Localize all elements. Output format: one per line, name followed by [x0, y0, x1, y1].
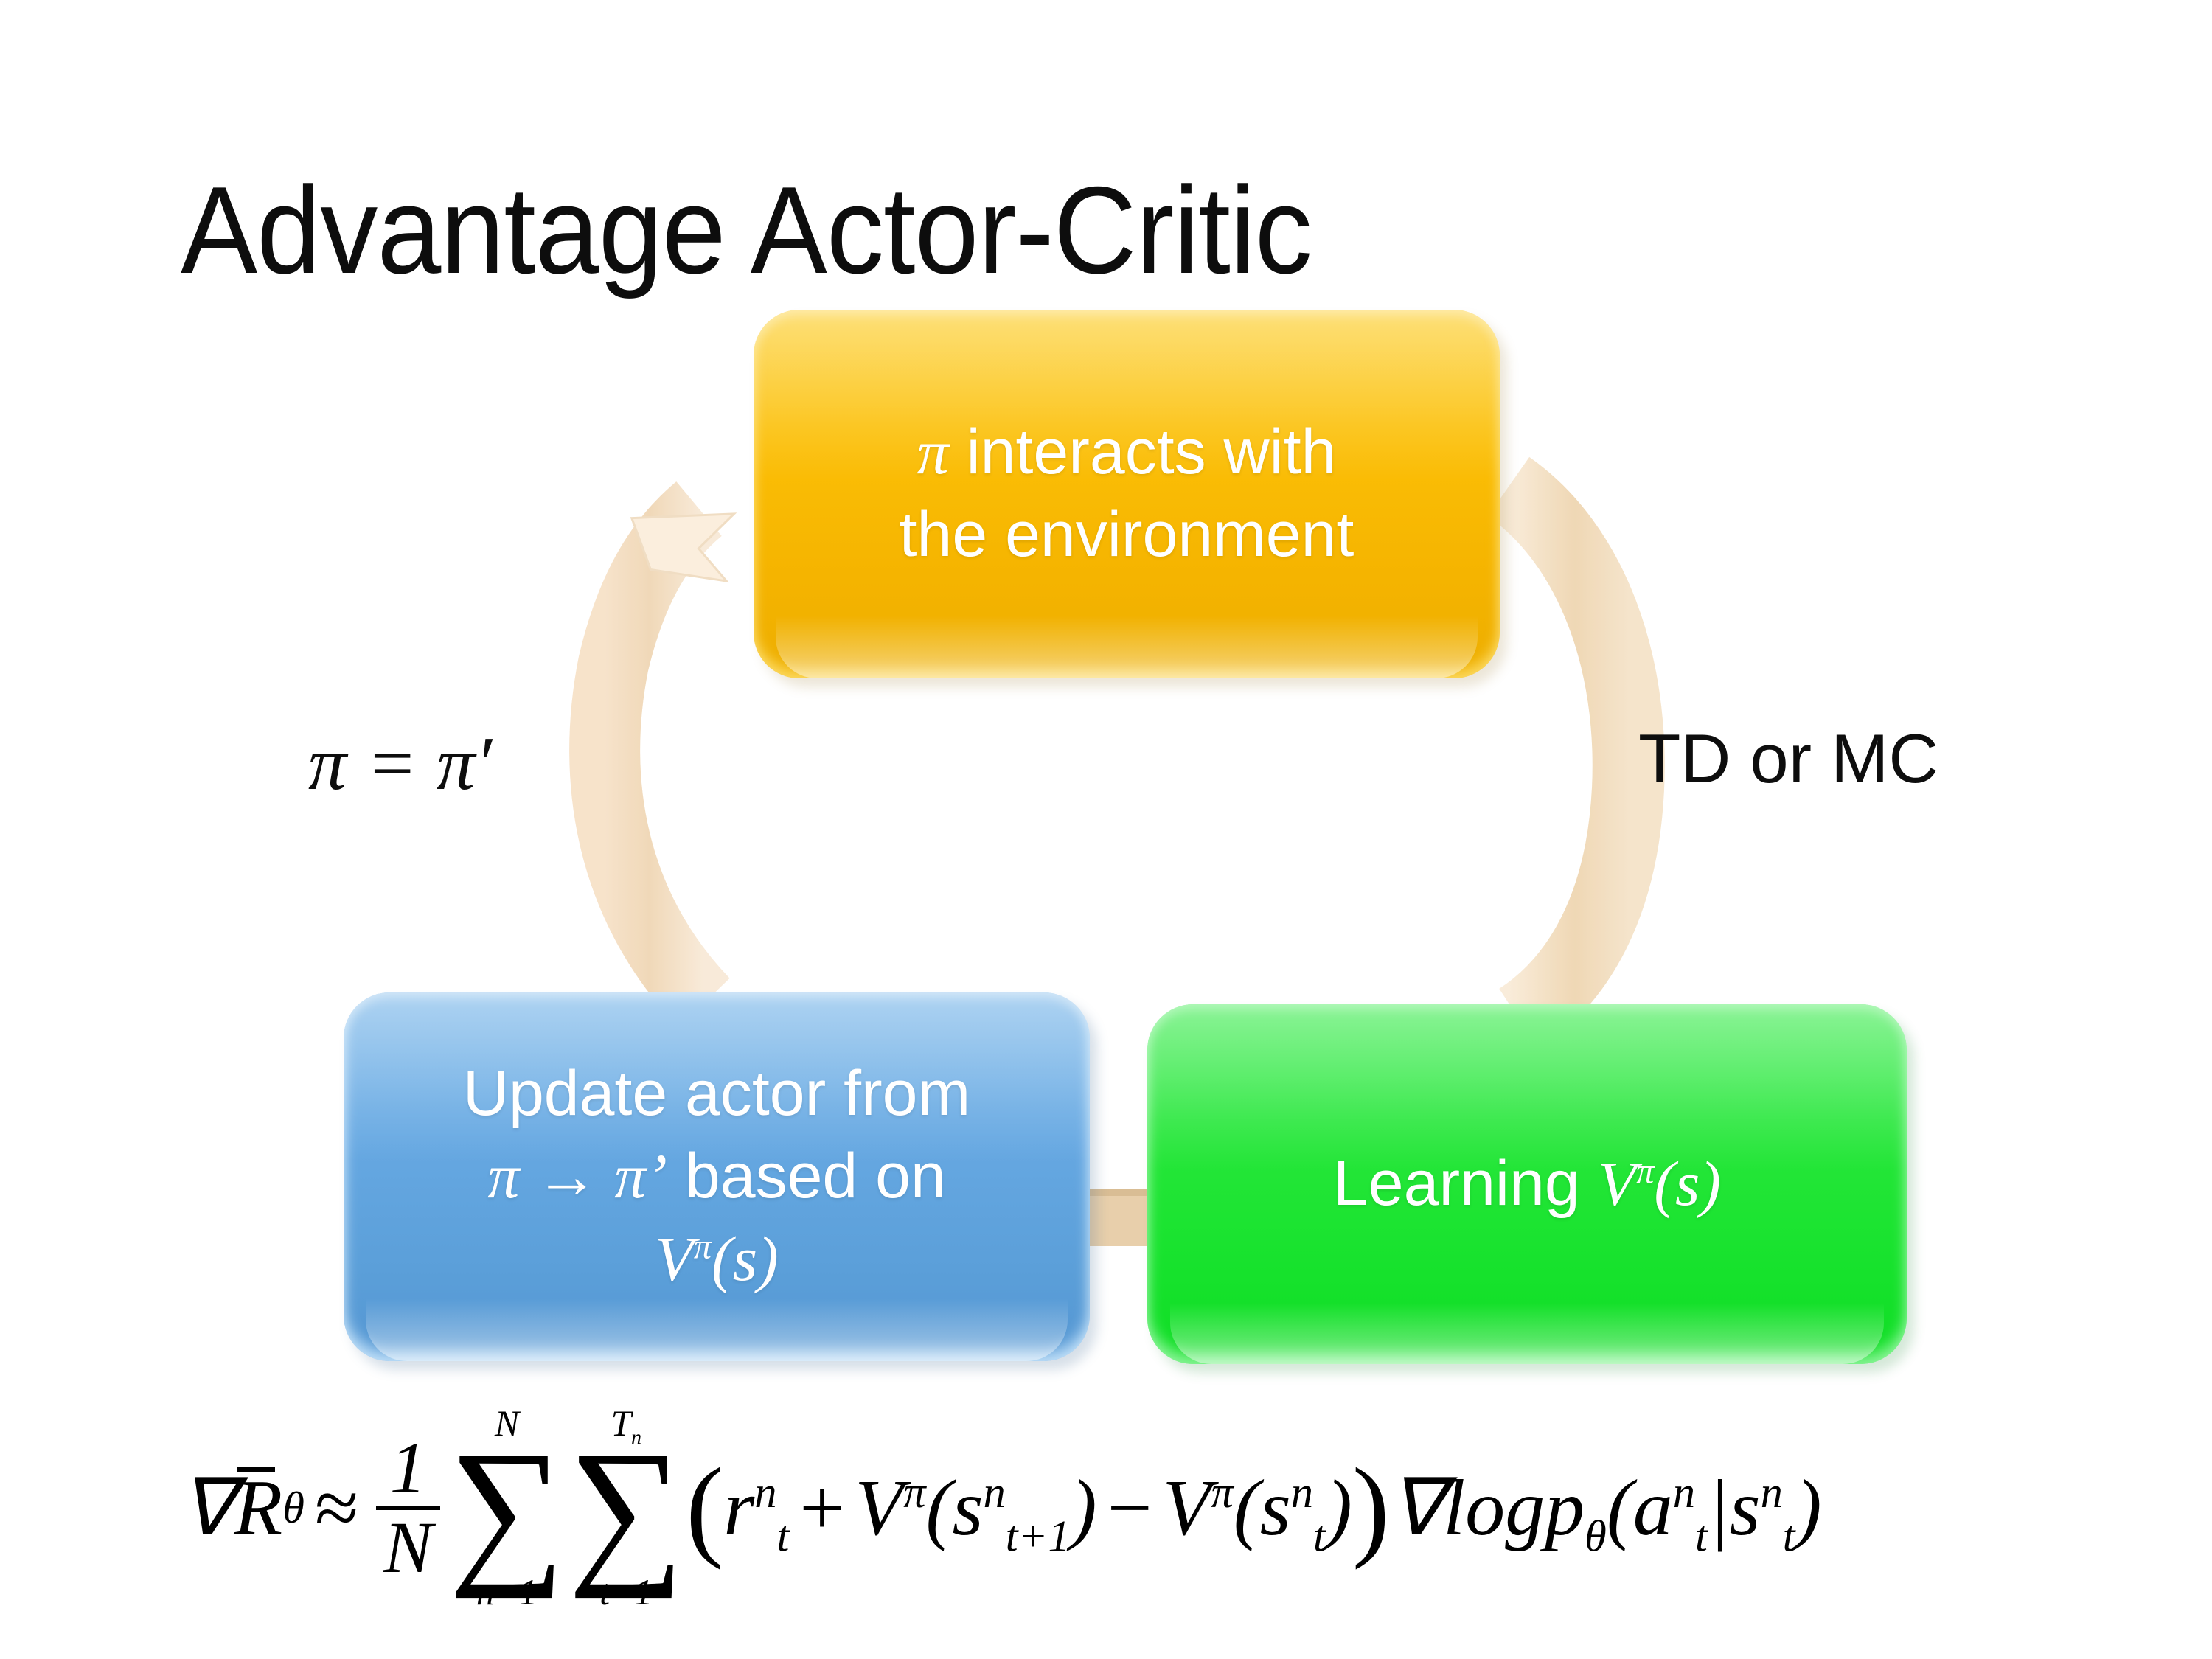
value-function-symbol: Vπ(s) [1598, 1148, 1721, 1219]
formula-frac-denominator: N [376, 1506, 439, 1585]
edge-label-pi-equals-pi-prime: π = π′ [308, 726, 492, 802]
slide-canvas: Advantage Actor-Critic [0, 0, 2212, 1659]
node-learning-label: Learning Vπ(s) [1147, 1143, 1907, 1225]
policy-gradient-formula: ∇Rθ ≈ 1 N N ∑ n=1 Tn ∑ t=1 ( rnt + Vπ(sn… [181, 1405, 1822, 1612]
formula-nabla: ∇ [181, 1469, 234, 1548]
value-function-symbol: Vπ(s) [655, 1223, 778, 1294]
node-policy-label: ππ interacts with interacts with the env… [754, 411, 1500, 577]
node-policy-interacts[interactable]: ππ interacts with interacts with the env… [754, 310, 1500, 678]
node-learning-value[interactable]: Learning Vπ(s) [1147, 1004, 1907, 1364]
formula-sum2-sigma: ∑ [568, 1443, 684, 1573]
formula-approx: ≈ [305, 1469, 369, 1548]
formula-sum1-lower: n=1 [476, 1573, 538, 1612]
edge-label-td-or-mc: TD or MC [1638, 724, 1938, 793]
formula-minus: − [1097, 1469, 1163, 1548]
pi-symbol: π [917, 417, 949, 487]
formula-reward-term: rnt [723, 1469, 789, 1548]
node-update-label: Update actor from π → π’ based on Vπ(s) [344, 1053, 1090, 1300]
formula-close-paren: ) [1352, 1469, 1390, 1548]
formula-sum2-lower: t=1 [599, 1573, 653, 1612]
formula-plus: + [789, 1469, 855, 1548]
node-update-line1: Update actor from [463, 1058, 970, 1129]
formula-sum-over-n: N ∑ n=1 [449, 1405, 566, 1612]
arrow-learning-to-update [1084, 1189, 1152, 1246]
arrow-policy-to-learning [1509, 487, 1629, 1019]
formula-value-next-state: Vπ(snt+1) [855, 1469, 1096, 1548]
formula-sum1-sigma: ∑ [449, 1443, 566, 1573]
formula-value-current-state: Vπ(snt) [1162, 1469, 1352, 1548]
node-policy-line2: the environment [900, 499, 1354, 570]
formula-sum-over-t: Tn ∑ t=1 [568, 1405, 684, 1612]
formula-frac-numerator: 1 [383, 1432, 434, 1506]
formula-one-over-N: 1 N [376, 1432, 439, 1585]
node-update-actor[interactable]: Update actor from π → π’ based on Vπ(s) [344, 992, 1090, 1361]
arrow-update-to-policy [605, 494, 749, 1003]
formula-R-bar: R [234, 1469, 282, 1548]
formula-open-paren: ( [686, 1469, 723, 1548]
node-learning-prefix: Learning [1333, 1148, 1598, 1219]
formula-nabla-log-p: ∇logpθ(ant|snt) [1390, 1469, 1822, 1548]
pi-arrow-pi-prime: π → π’ [487, 1141, 667, 1211]
